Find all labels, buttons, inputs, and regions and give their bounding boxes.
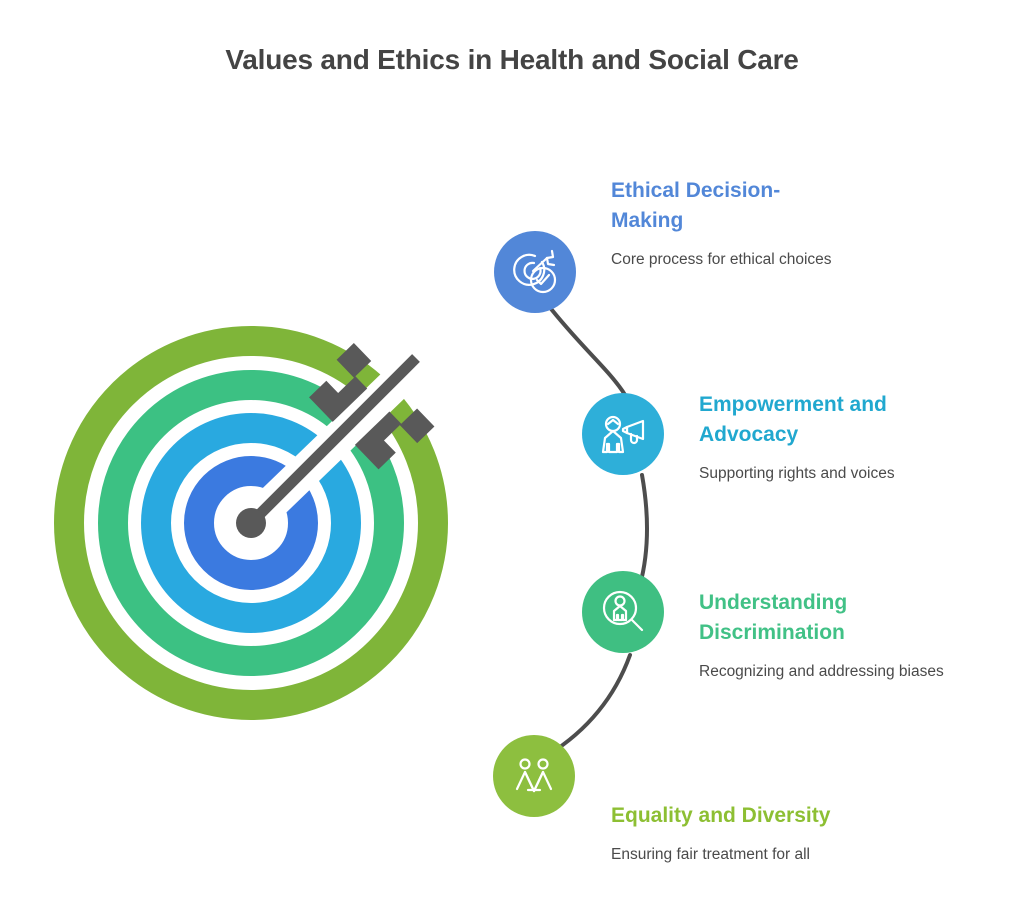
item-description: Supporting rights and voices (699, 463, 949, 485)
two-people-icon (508, 750, 560, 802)
item-text-empowerment-advocacy: Empowerment and Advocacy Supporting righ… (699, 390, 949, 485)
item-heading: Ethical Decision-Making (611, 176, 841, 236)
item-text-equality-diversity: Equality and Diversity Ensuring fair tre… (611, 801, 911, 866)
item-heading: Understanding Discrimination (699, 588, 944, 648)
item-text-ethical-decision-making: Ethical Decision-Making Core process for… (611, 176, 841, 271)
item-description: Core process for ethical choices (611, 249, 841, 271)
icon-circle-ethical-decision-making[interactable] (494, 231, 576, 313)
page-title: Values and Ethics in Health and Social C… (0, 44, 1024, 76)
target-graphic (50, 320, 460, 730)
arrow-center-dot (236, 508, 266, 538)
item-description: Ensuring fair treatment for all (611, 844, 911, 866)
target-arrow-check-icon (509, 246, 561, 298)
icon-circle-understanding-discrimination[interactable] (582, 571, 664, 653)
infographic-canvas: Values and Ethics in Health and Social C… (0, 0, 1024, 911)
item-heading: Equality and Diversity (611, 801, 911, 831)
magnifier-person-icon (597, 586, 649, 638)
item-heading: Empowerment and Advocacy (699, 390, 949, 450)
person-megaphone-icon (597, 408, 649, 460)
icon-circle-empowerment-advocacy[interactable] (582, 393, 664, 475)
icon-circle-equality-diversity[interactable] (493, 735, 575, 817)
item-description: Recognizing and addressing biases (699, 661, 944, 683)
item-text-understanding-discrimination: Understanding Discrimination Recognizing… (699, 588, 944, 683)
